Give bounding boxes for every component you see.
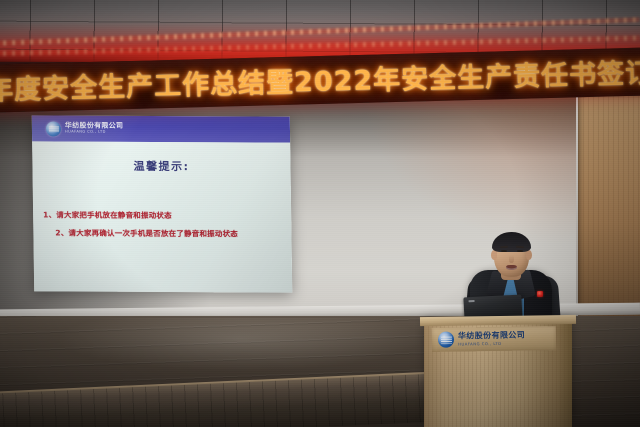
speaker-lapel-badge [537,291,543,297]
company-logo-icon [46,121,61,136]
slide-header-band: 华纺股份有限公司 HUAFANG CO., LTD [32,115,290,142]
speaker-mouth [506,265,517,270]
conference-room-photo: 华纺股份有限公司 HUAFANG CO., LTD 温馨提示: 1、请大家把手机… [0,0,640,427]
slide-bullet-2: 2、请大家再确认一次手机是否放在了静音和振动状态 [55,227,279,239]
podium-nameplate: 华纺股份有限公司 HUAFANG CO., LTD [432,326,556,352]
slide-bullet-list: 1、请大家把手机放在静音和振动状态 2、请大家再确认一次手机是否放在了静音和振动… [43,209,280,246]
slide-title: 温馨提示: [32,157,290,174]
laptop-brand-badge [469,300,475,302]
floor-reflection [60,318,420,370]
speaker-nose [509,255,514,263]
podium-company-name-cn: 华纺股份有限公司 [458,332,525,341]
podium-company-name-en: HUAFANG CO., LTD [458,342,525,347]
projected-slide: 华纺股份有限公司 HUAFANG CO., LTD 温馨提示: 1、请大家把手机… [32,115,293,292]
slide-body: 温馨提示: 1、请大家把手机放在静音和振动状态 2、请大家再确认一次手机是否放在… [32,141,292,292]
podium-company-logo-icon [438,332,454,348]
slide-company-name-cn: 华纺股份有限公司 [65,122,124,129]
door-grain [578,96,640,326]
wooden-door [578,96,640,326]
podium-logo-text: 华纺股份有限公司 HUAFANG CO., LTD [458,332,525,347]
slide-company-name-en: HUAFANG CO., LTD [65,131,123,135]
slide-logo-text: 华纺股份有限公司 HUAFANG CO., LTD [65,122,124,134]
speaker-ear-right [526,250,532,260]
slide-bullet-1: 1、请大家把手机放在静音和振动状态 [43,209,279,221]
projection-screen: 华纺股份有限公司 HUAFANG CO., LTD 温馨提示: 1、请大家把手机… [32,115,293,292]
